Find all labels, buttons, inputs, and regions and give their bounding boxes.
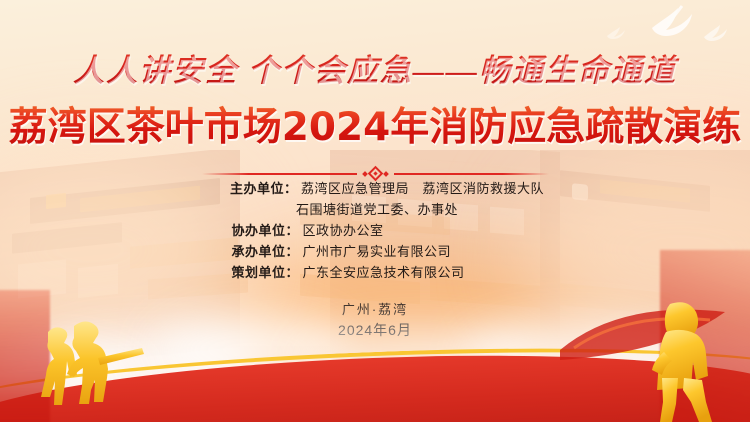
- organizer-label: 主办单位: [206, 178, 284, 199]
- organizer-colon: ：: [284, 178, 301, 199]
- organizer-row: 协办单位 ： 区政协办公室: [0, 220, 750, 241]
- organizer-label: 策划单位: [207, 262, 285, 283]
- divider-line-right: [394, 173, 549, 175]
- organizer-colon: ：: [285, 262, 302, 283]
- organizer-row: 主办单位 ： 荔湾区应急管理局 荔湾区消防救援大队: [0, 178, 750, 199]
- organizer-row: 石围塘街道党工委、办事处: [0, 199, 750, 220]
- organizer-list: 主办单位 ： 荔湾区应急管理局 荔湾区消防救援大队 石围塘街道党工委、办事处 协…: [0, 178, 750, 283]
- firefighter-silhouette-icon: [24, 318, 144, 410]
- organizer-label: 协办单位: [207, 220, 285, 241]
- running-person-silhouette-icon: [636, 300, 732, 422]
- organizer-value: 广州市广易实业有限公司: [303, 241, 543, 262]
- organizer-value: 石围塘街道党工委、办事处: [296, 199, 536, 220]
- organizer-value: 广东全安应急技术有限公司: [303, 262, 543, 283]
- dove-icon: [648, 4, 694, 38]
- poster-slogan: 人人讲安全 个个会应急——畅通生命通道: [0, 48, 750, 94]
- organizer-value: 荔湾区应急管理局 荔湾区消防救援大队: [301, 178, 544, 199]
- dove-icon-tiny: [606, 26, 626, 40]
- divider-line-left: [202, 173, 357, 175]
- dove-icon-small: [702, 24, 728, 42]
- organizer-label: 承办单位: [207, 241, 285, 262]
- organizer-colon: ：: [285, 220, 302, 241]
- poster-title: 荔湾区茶叶市场2024年消防应急疏散演练: [0, 104, 750, 152]
- organizer-row: 策划单位 ： 广东全安应急技术有限公司: [0, 262, 750, 283]
- fire-drill-poster: 人人讲安全 个个会应急——畅通生命通道 人人讲安全 个个会应急——畅通生命通道 …: [0, 0, 750, 422]
- organizer-row: 承办单位 ： 广州市广易实业有限公司: [0, 241, 750, 262]
- organizer-colon: ：: [285, 241, 302, 262]
- organizer-value: 区政协办公室: [303, 220, 543, 241]
